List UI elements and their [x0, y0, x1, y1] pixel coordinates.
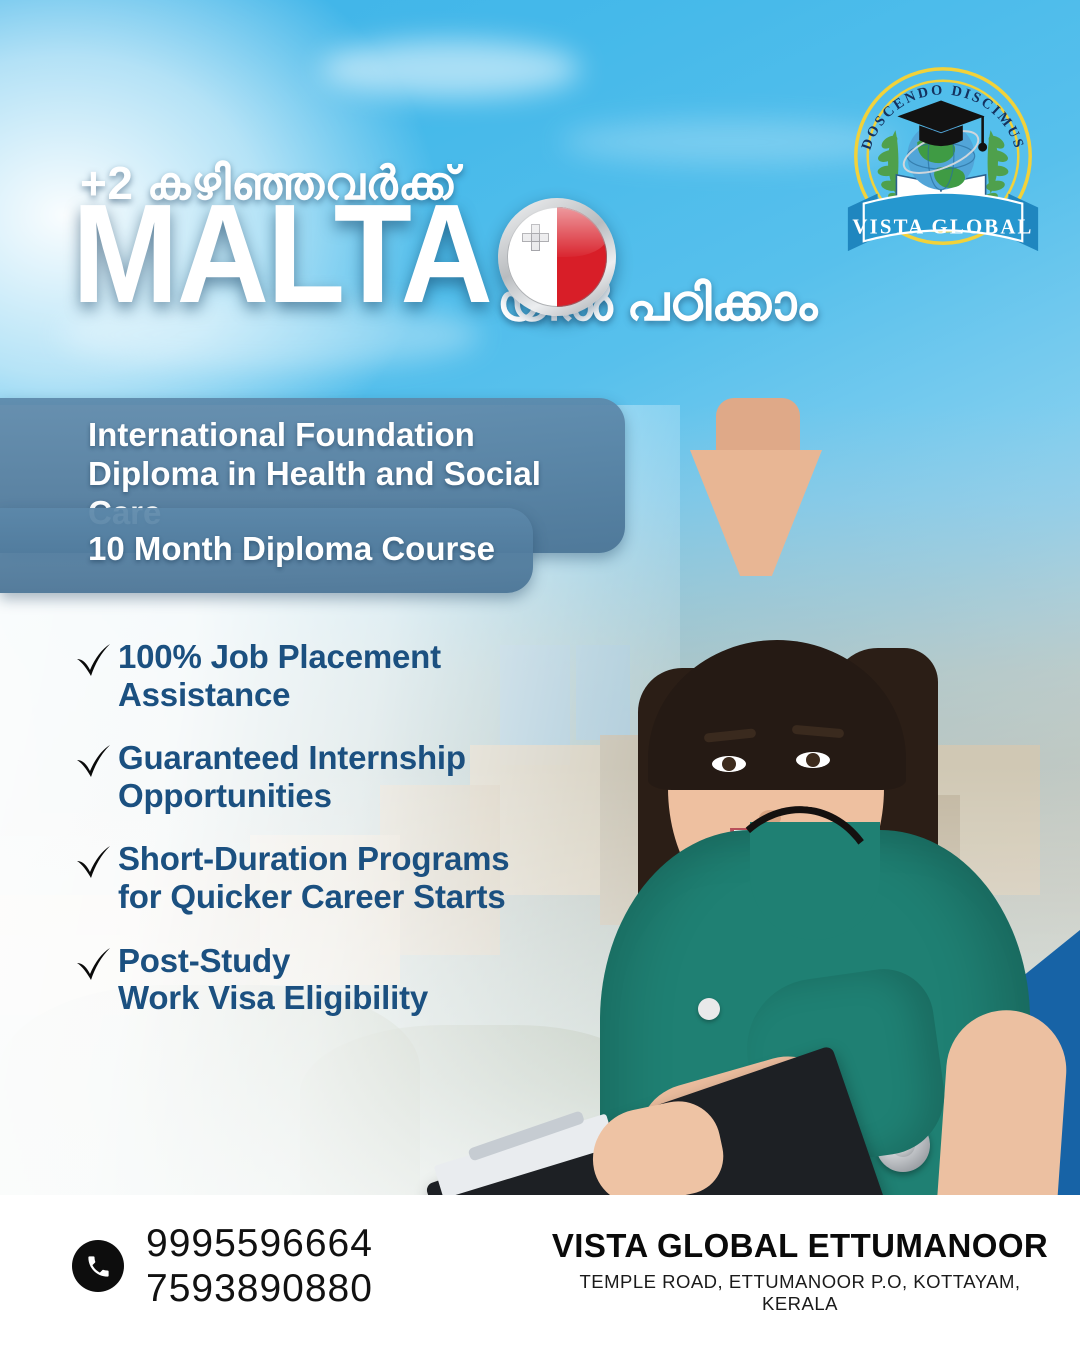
phone-number-1[interactable]: 9995596664: [146, 1222, 373, 1265]
cloud-wisp: [320, 40, 580, 98]
list-item-line2: Work Visa Eligibility: [118, 979, 428, 1016]
phone-icon: [72, 1240, 124, 1292]
headline-country: MALTA: [72, 198, 491, 313]
logo-name: VISTA GLOBAL: [852, 215, 1033, 238]
list-item: 100% Job Placement Assistance: [74, 638, 594, 713]
v-neckline: [690, 450, 822, 576]
list-item-line1: Short-Duration Programs: [118, 840, 509, 877]
malta-flag-icon: [498, 198, 616, 316]
phone-number-2[interactable]: 7593890880: [146, 1267, 373, 1310]
branch-address-block: VISTA GLOBAL ETTUMANOOR TEMPLE ROAD, ETT…: [545, 1227, 1055, 1315]
checkmark-icon: [74, 946, 118, 982]
stethoscope-earpiece: [698, 998, 720, 1020]
list-item-line2: for Quicker Career Starts: [118, 878, 506, 915]
eye: [796, 752, 830, 768]
branch-address: TEMPLE ROAD, ETTUMANOOR P.O, KOTTAYAM, K…: [545, 1271, 1055, 1315]
checkmark-icon: [74, 743, 118, 779]
eye: [712, 756, 746, 772]
checkmark-icon: [74, 642, 118, 678]
list-item: Guaranteed Internship Opportunities: [74, 739, 594, 814]
list-item-line2: Opportunities: [118, 777, 332, 814]
list-item-line2: Assistance: [118, 676, 290, 713]
checkmark-icon: [74, 844, 118, 880]
footer: 9995596664 7593890880 VISTA GLOBAL ETTUM…: [0, 1195, 1080, 1350]
headline-block: +2 കഴിഞ്ഞവർക്ക് MALTA യിൽ പഠിക്കാം: [72, 160, 872, 313]
benefits-list: 100% Job Placement Assistance Guaranteed…: [74, 638, 594, 1043]
poster: DOSCENDO DISCIMUS: [0, 0, 1080, 1350]
contact-phone-group: 9995596664 7593890880: [72, 1221, 373, 1311]
list-item: Short-Duration Programs for Quicker Care…: [74, 840, 594, 915]
list-item-line1: 100% Job Placement: [118, 638, 441, 675]
flag-gloss: [507, 207, 607, 257]
list-item-line1: Guaranteed Internship: [118, 739, 466, 776]
branch-name: VISTA GLOBAL ETTUMANOOR: [545, 1227, 1055, 1265]
list-item: Post-Study Work Visa Eligibility: [74, 942, 594, 1017]
course-duration-banner: 10 Month Diploma Course: [0, 508, 533, 593]
list-item-line1: Post-Study: [118, 942, 290, 979]
